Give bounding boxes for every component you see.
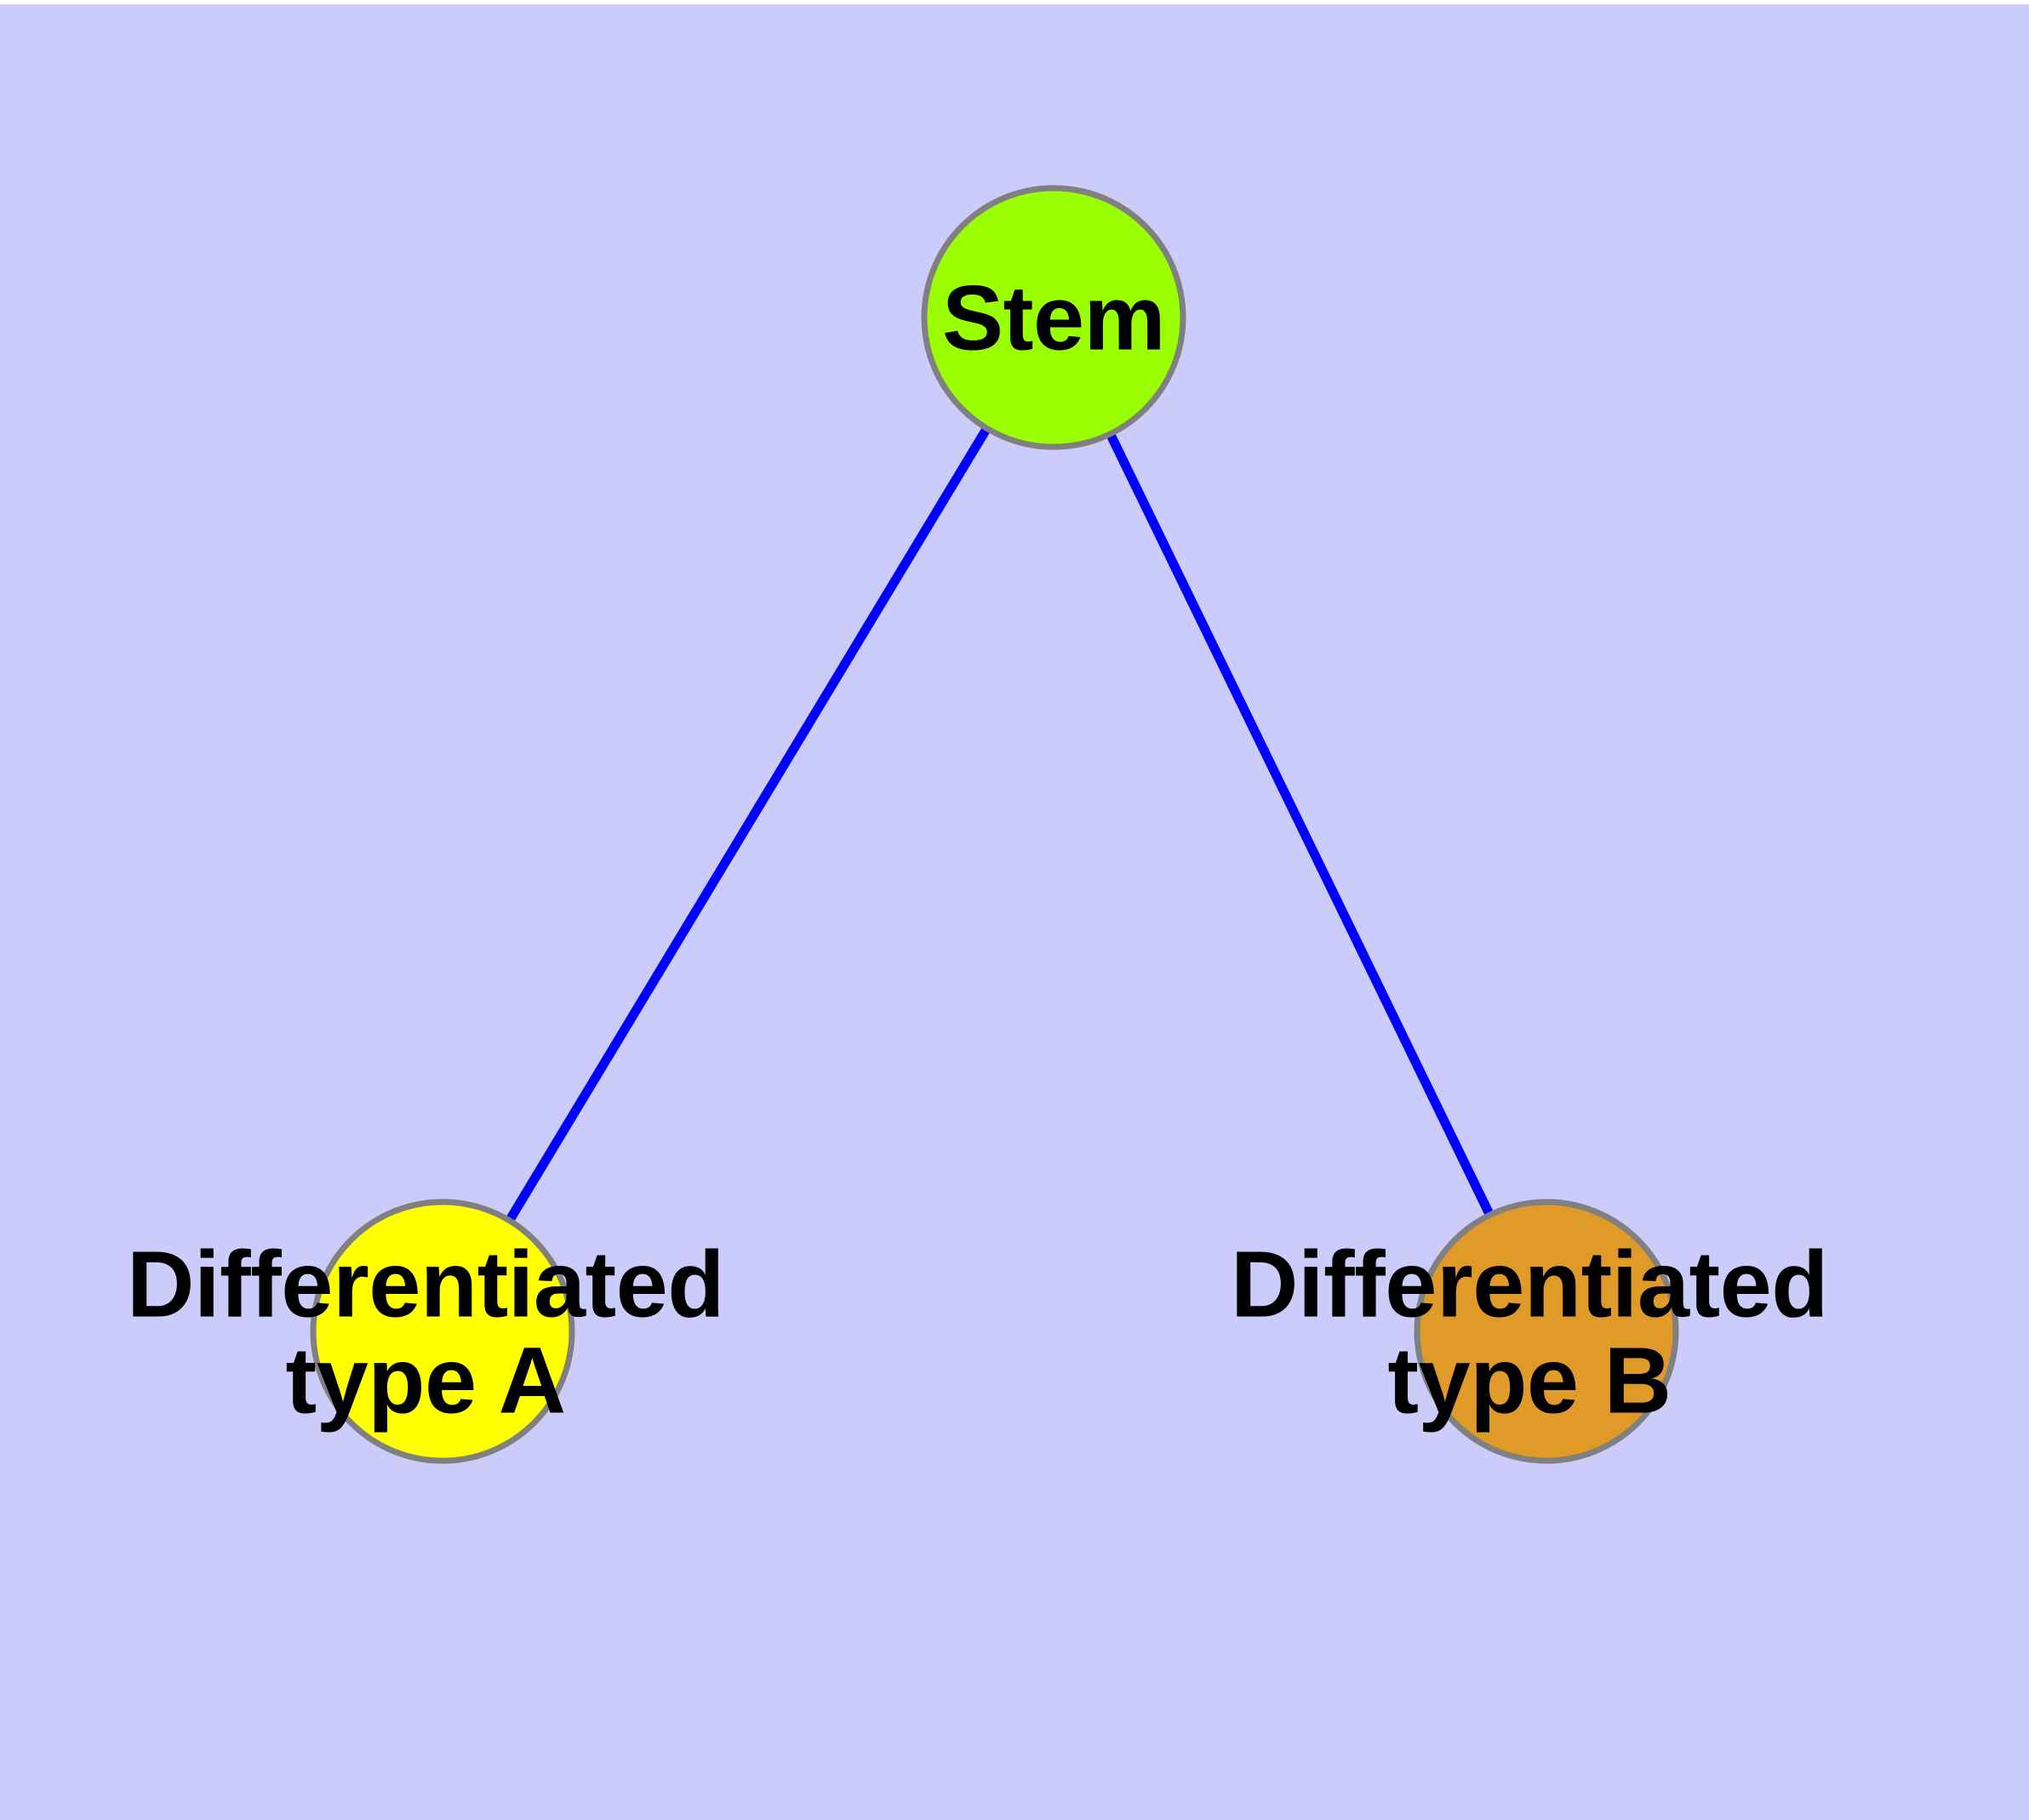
- node-layer: [313, 188, 1676, 1461]
- edge-stem-to-differentiated-type-b: [1110, 434, 1489, 1216]
- node-differentiated-type-b[interactable]: [1417, 1202, 1676, 1461]
- diagram-canvas: Stem Differentiated type A Differentiate…: [0, 0, 2029, 1820]
- node-differentiated-type-a[interactable]: [313, 1202, 572, 1461]
- edge-layer: [509, 428, 1489, 1221]
- node-stem[interactable]: [924, 188, 1183, 447]
- edge-stem-to-differentiated-type-a: [509, 428, 986, 1221]
- graph-svg: [0, 0, 2029, 1820]
